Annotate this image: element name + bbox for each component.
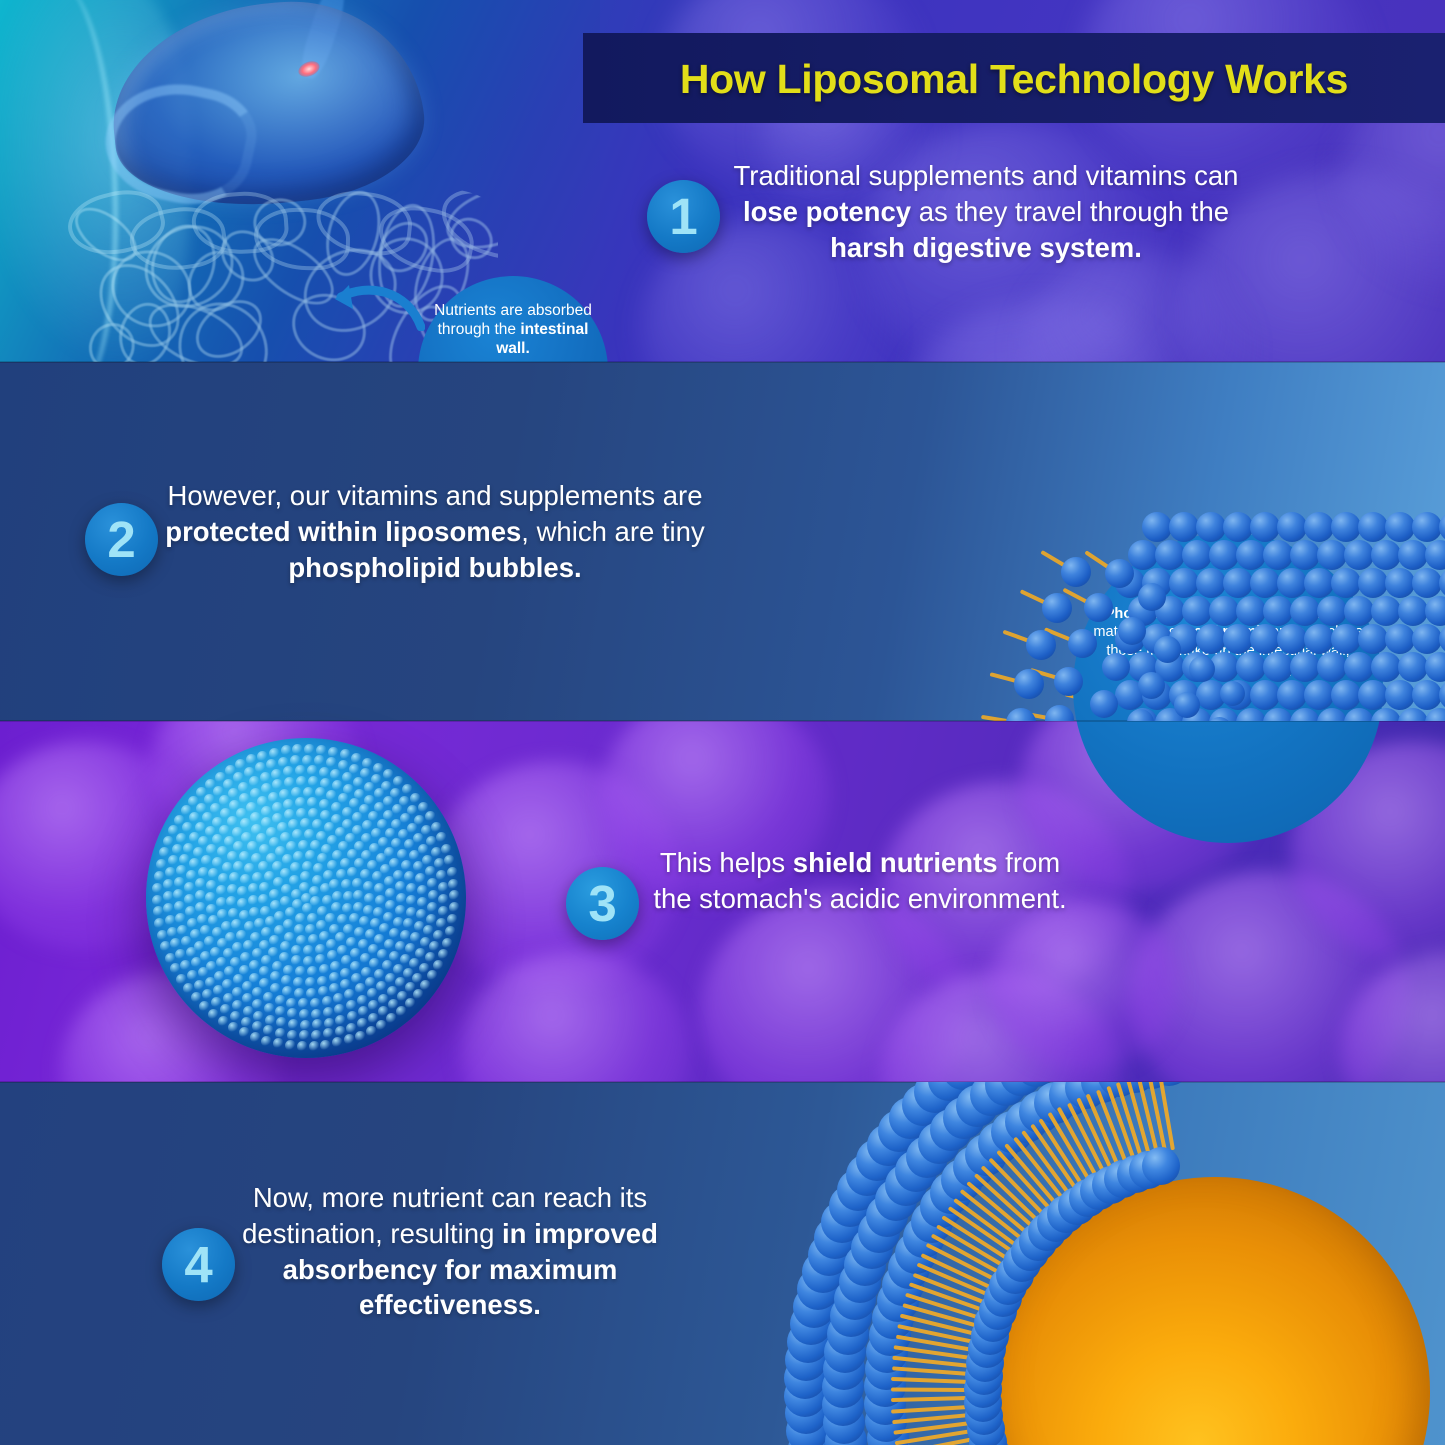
section-divider-3 (0, 1081, 1445, 1083)
infographic-canvas: Nutrients are absorbed through the intes… (0, 0, 1445, 1445)
step-number-2: 2 (85, 503, 158, 576)
section-divider-1 (0, 361, 1445, 363)
phospholipid-bilayer-illustration (685, 362, 1445, 721)
step-number-4: 4 (162, 1228, 235, 1301)
liposome-cross-section-illustration (745, 1082, 1445, 1445)
absorption-arrow-icon (333, 283, 425, 331)
liposome-bead-texture (146, 738, 466, 1058)
step-number-3: 3 (566, 867, 639, 940)
step-1-body-text: Traditional supplements and vitamins can… (716, 158, 1256, 265)
page-title: How Liposomal Technology Works (583, 40, 1445, 118)
step-4-body-text: Now, more nutrient can reach its destina… (230, 1180, 670, 1323)
step-number-1: 1 (647, 180, 720, 253)
step-3-body-text: This helps shield nutrients from the sto… (650, 845, 1070, 917)
liposome-sphere (146, 738, 466, 1058)
callout-1-text: Nutrients are absorbed through the intes… (434, 302, 592, 357)
step-2-body-text: However, our vitamins and supplements ar… (155, 478, 715, 585)
